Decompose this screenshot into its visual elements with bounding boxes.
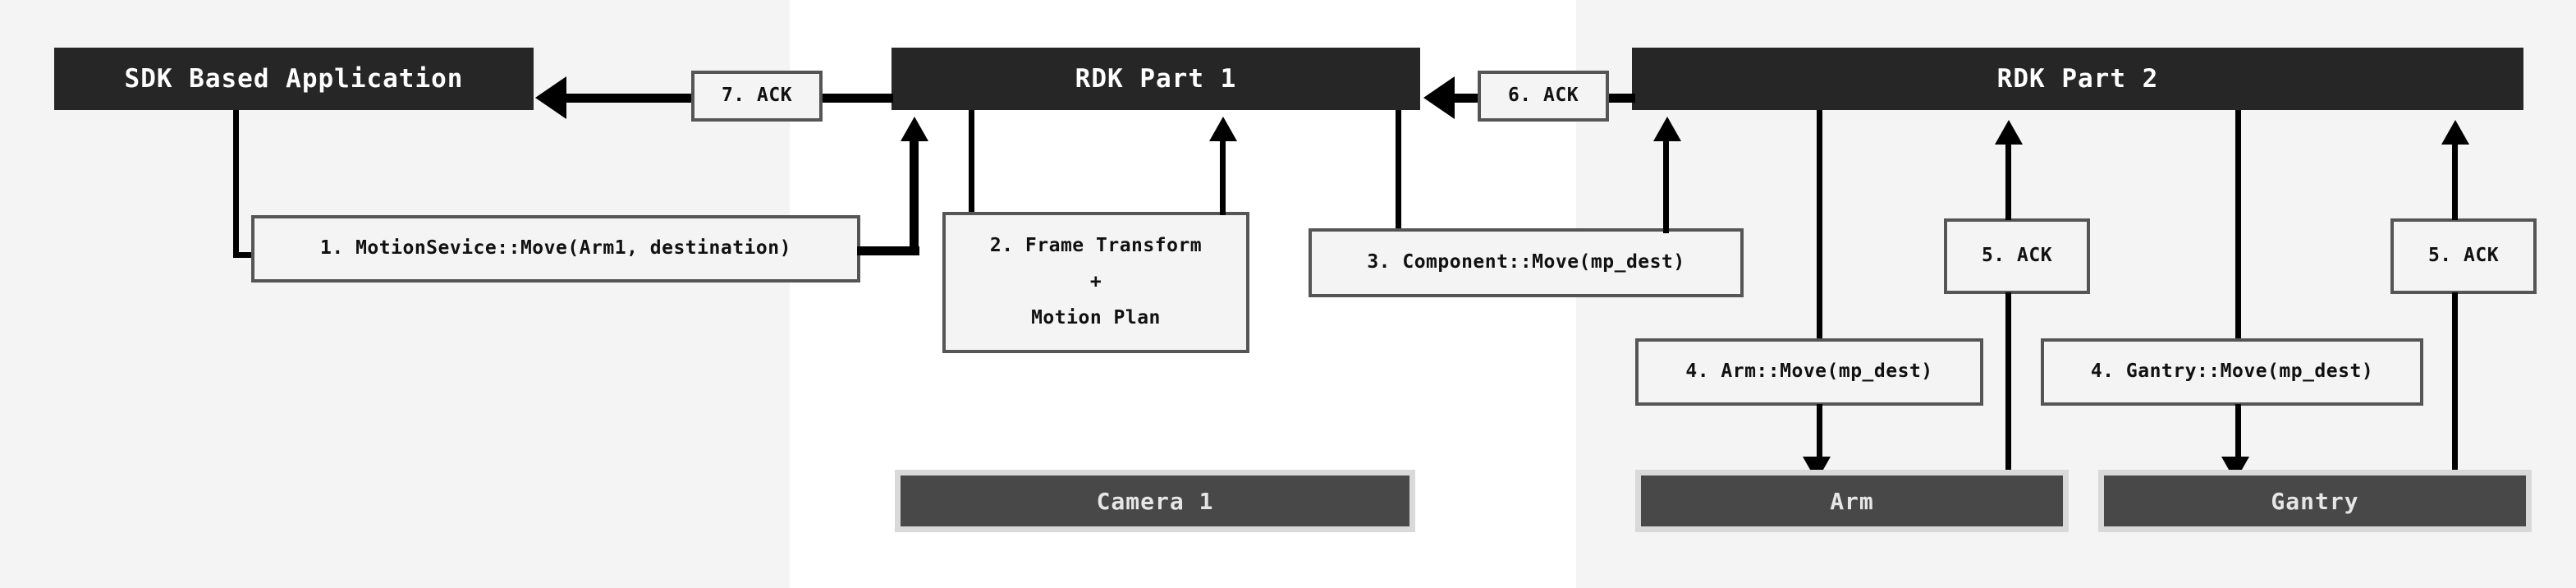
header-rdk-part-2[interactable]: RDK Part 2: [1632, 48, 2523, 110]
connector-msg3-arrowhead: [1653, 117, 1681, 141]
label-ack-7[interactable]: 7. ACK: [691, 71, 823, 122]
component-gantry[interactable]: Gantry: [2098, 470, 2532, 532]
label-ack-5-arm-text: 5. ACK: [1982, 238, 2052, 274]
header-rdk-part-1[interactable]: RDK Part 1: [892, 48, 1420, 110]
message-box-2-line-1: +: [1090, 264, 1102, 301]
connector-msg2-riser: [1220, 141, 1226, 215]
connector-msg3-drop: [1396, 110, 1401, 235]
component-gantry-inner: Gantry: [2104, 475, 2526, 526]
label-ack-7-text: 7. ACK: [722, 78, 792, 114]
message-box-3[interactable]: 3. Component::Move(mp_dest): [1309, 228, 1744, 297]
component-camera-1-label: Camera 1: [1097, 488, 1214, 515]
connector-msg2-arrowhead: [1209, 117, 1237, 141]
diagram-canvas: SDK Based Application RDK Part 1 RDK Par…: [0, 0, 2576, 588]
message-box-4-arm[interactable]: 4. Arm::Move(mp_dest): [1635, 338, 1983, 406]
message-box-1-line-0: 1. MotionSevice::Move(Arm1, destination): [320, 231, 791, 267]
component-camera-1-inner: Camera 1: [901, 475, 1409, 526]
connector-ack5-gantry-from-gantry: [2452, 292, 2458, 480]
message-box-4-gantry[interactable]: 4. Gantry::Move(mp_dest): [2041, 338, 2423, 406]
label-ack-6-text: 6. ACK: [1508, 78, 1579, 114]
connector-msg4-gantry-drop: [2235, 110, 2241, 345]
message-box-2[interactable]: 2. Frame Transform + Motion Plan: [942, 212, 1249, 353]
connector-msg2-drop: [969, 110, 974, 215]
component-arm[interactable]: Arm: [1635, 470, 2069, 532]
label-ack-5-gantry-text: 5. ACK: [2428, 238, 2499, 274]
connector-ack6-arrowhead: [1423, 76, 1455, 119]
message-box-2-line-0: 2. Frame Transform: [990, 228, 1202, 264]
label-ack-6[interactable]: 6. ACK: [1478, 71, 1609, 122]
label-ack-5-arm[interactable]: 5. ACK: [1944, 218, 2090, 294]
header-rdk-part-1-label: RDK Part 1: [1075, 64, 1237, 94]
component-arm-inner: Arm: [1641, 475, 2063, 526]
label-ack-5-gantry[interactable]: 5. ACK: [2390, 218, 2537, 294]
component-arm-label: Arm: [1830, 488, 1874, 515]
header-rdk-part-2-label: RDK Part 2: [1997, 64, 2159, 94]
connector-ack5-gantry-riser: [2452, 145, 2458, 220]
connector-ack7-arrowhead: [535, 76, 566, 119]
connector-msg4-arm-drop: [1817, 110, 1822, 345]
connector-msg3-riser: [1663, 141, 1669, 233]
component-camera-1[interactable]: Camera 1: [895, 470, 1415, 532]
message-box-1[interactable]: 1. MotionSevice::Move(Arm1, destination): [251, 215, 860, 283]
header-sdk-based-application[interactable]: SDK Based Application: [54, 48, 534, 110]
connector-msg1-arrowhead: [901, 117, 928, 141]
connector-ack5-arm-arrowhead: [1995, 120, 2023, 145]
connector-ack5-gantry-arrowhead: [2441, 120, 2469, 145]
message-box-3-line-0: 3. Component::Move(mp_dest): [1367, 245, 1684, 281]
connector-ack5-arm-riser: [2005, 145, 2011, 220]
component-gantry-label: Gantry: [2271, 488, 2358, 515]
message-box-4-arm-line-0: 4. Arm::Move(mp_dest): [1685, 354, 1932, 390]
message-box-2-line-2: Motion Plan: [1031, 301, 1161, 337]
connector-msg1-riser: [910, 141, 919, 251]
connector-ack5-arm-from-arm: [2005, 292, 2011, 480]
header-sdk-based-application-label: SDK Based Application: [125, 64, 464, 94]
connector-msg1-drop: [233, 110, 239, 258]
message-box-4-gantry-line-0: 4. Gantry::Move(mp_dest): [2091, 354, 2373, 390]
